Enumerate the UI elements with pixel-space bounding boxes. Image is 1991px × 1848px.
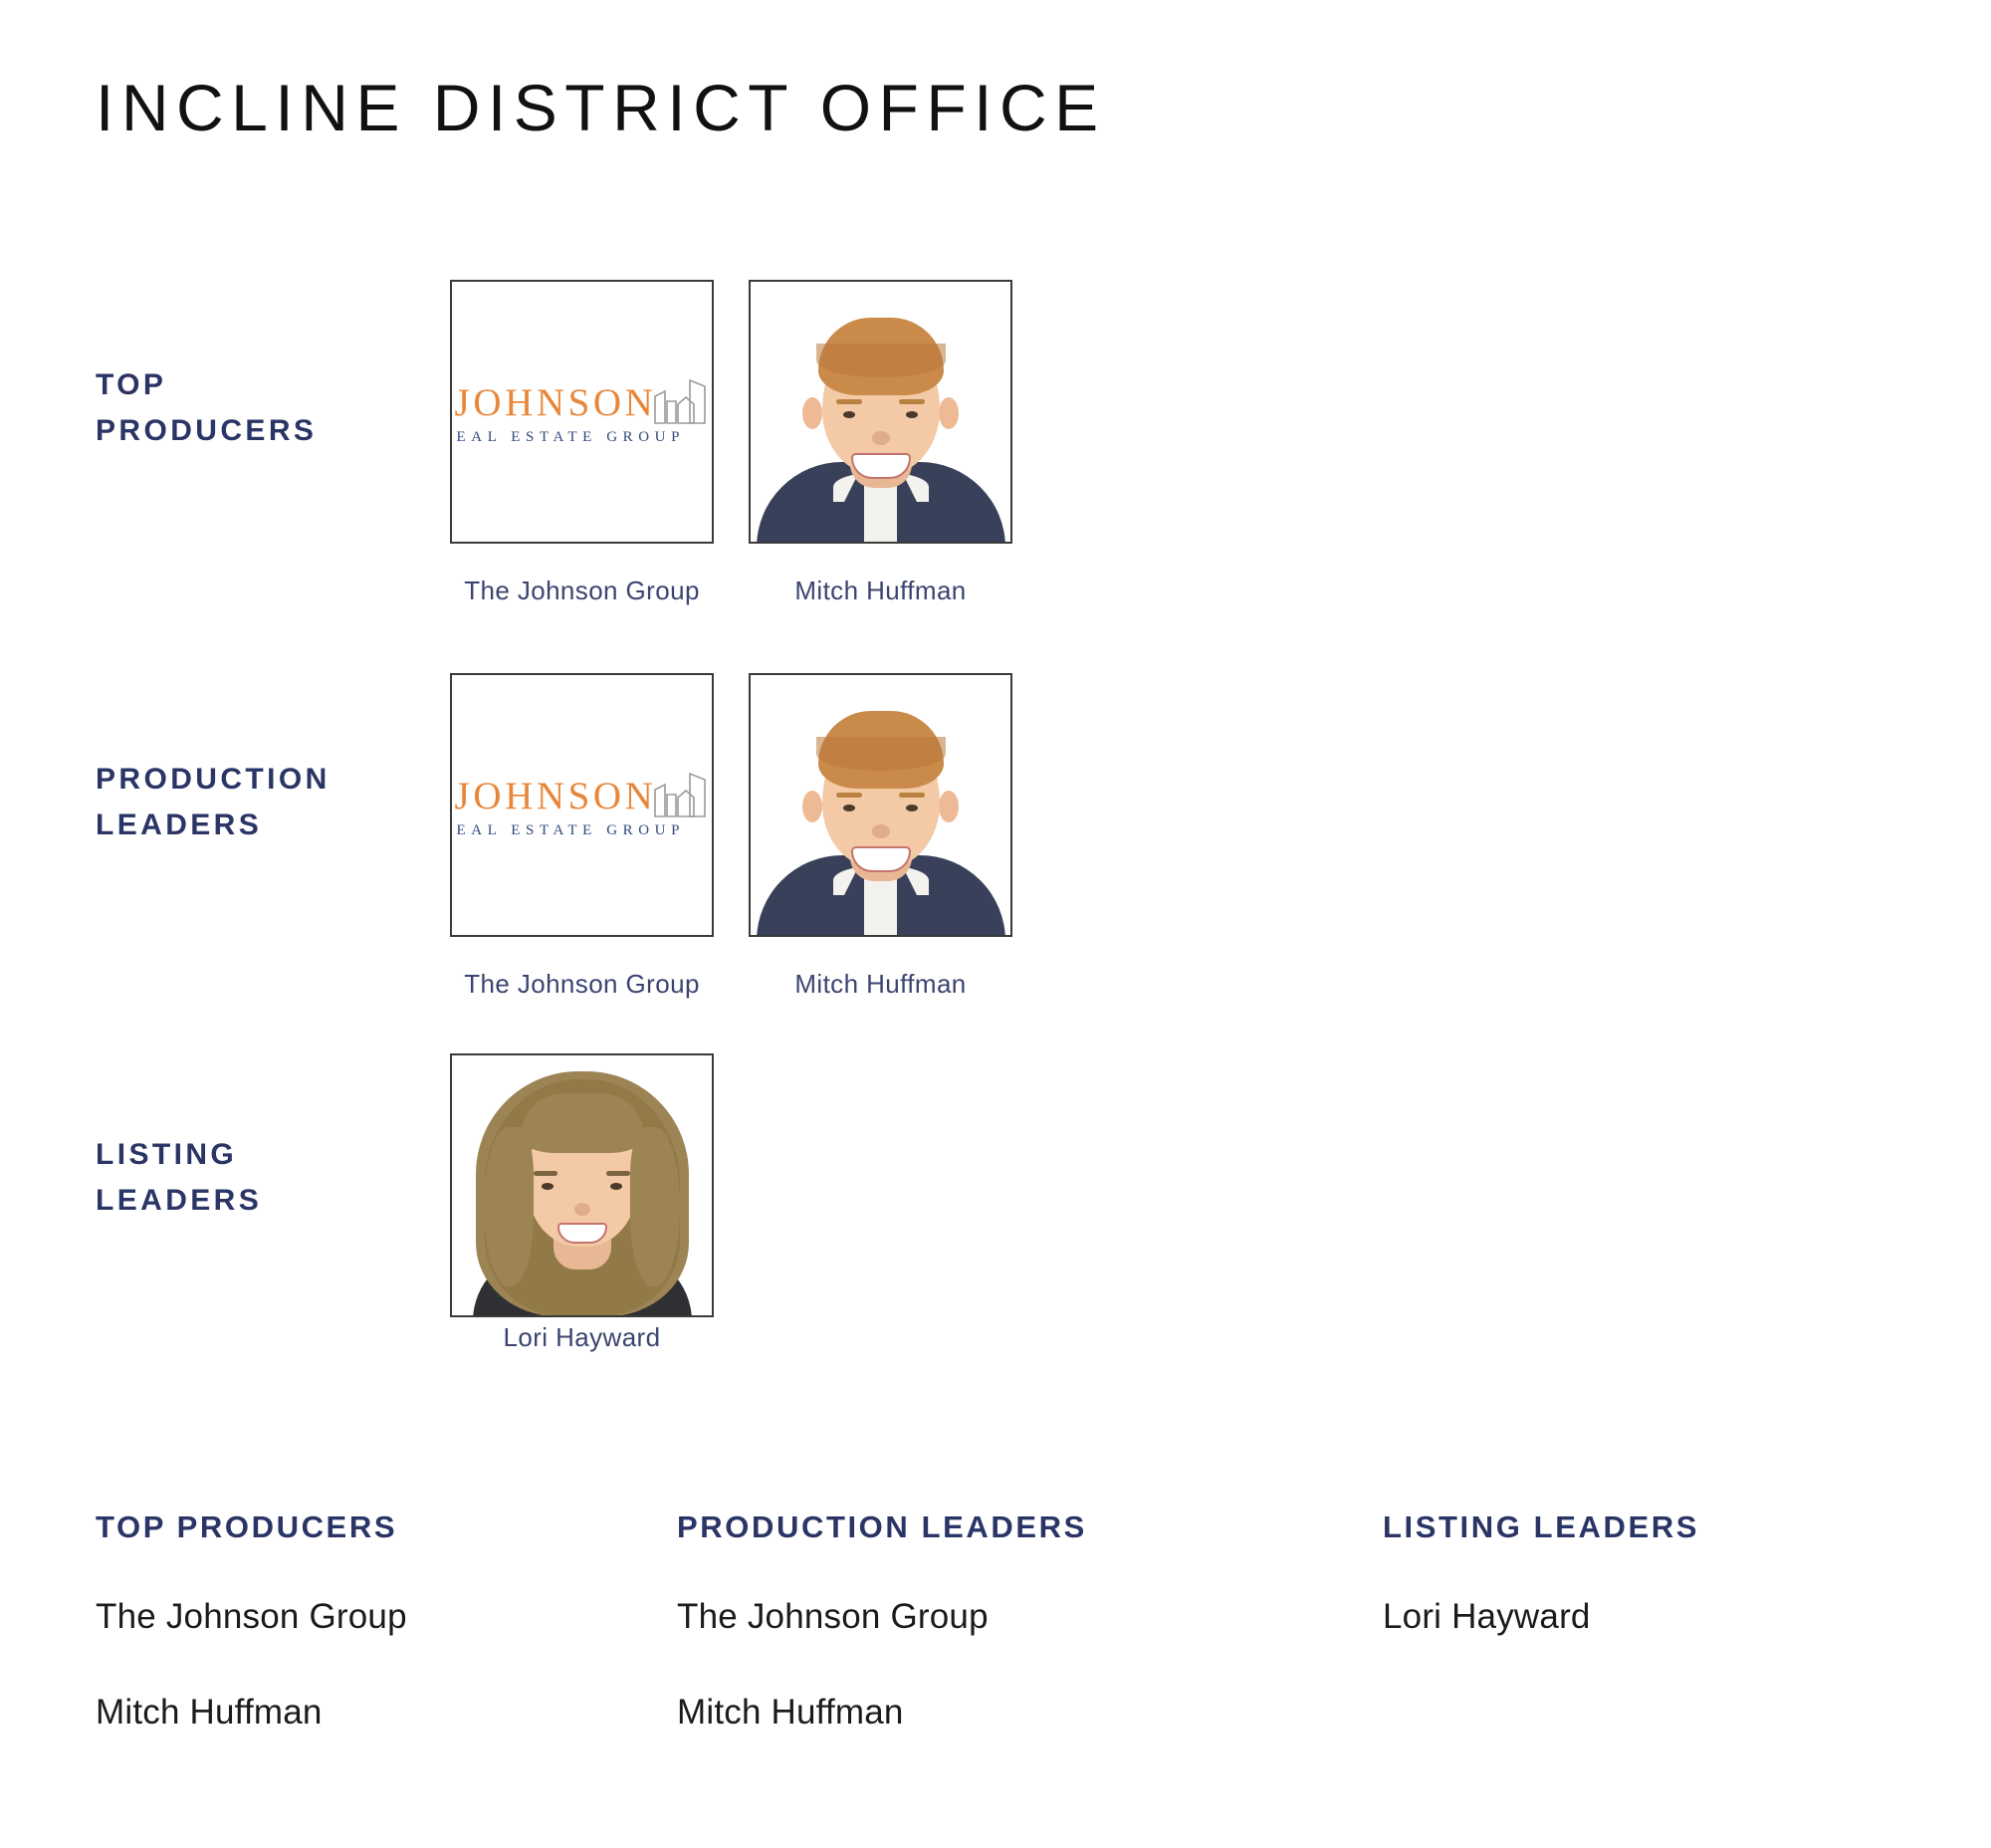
row-label-line-2: LEADERS	[96, 803, 424, 848]
johnson-real-estate-group-logo: JOHNSON REAL ESTATE GROUP	[452, 378, 712, 446]
award-card-logo[interactable]: JOHNSON REAL ESTATE GROUP	[450, 673, 714, 937]
skyline-buildings-icon	[653, 772, 709, 817]
johnson-real-estate-group-logo: JOHNSON REAL ESTATE GROUP	[452, 772, 712, 839]
summary-column-listing-leaders: LISTING LEADERS Lori Hayward	[1383, 1509, 1940, 1693]
award-card-caption: Mitch Huffman	[749, 575, 1012, 608]
award-card-headshot[interactable]	[749, 673, 1012, 937]
row-label-line-1: TOP	[96, 362, 424, 408]
summary-list-item: Mitch Huffman	[677, 1693, 1314, 1732]
row-label-top-producers: TOP PRODUCERS	[96, 362, 424, 453]
award-card-caption: Mitch Huffman	[749, 968, 1012, 1002]
award-card-caption: The Johnson Group	[450, 575, 714, 608]
award-card-headshot[interactable]	[450, 1053, 714, 1317]
logo-wordmark: JOHNSON	[455, 383, 657, 422]
headshot-photo-mitch-huffman	[751, 675, 1010, 935]
row-label-listing-leaders: LISTING LEADERS	[96, 1132, 424, 1223]
logo-primary-line: JOHNSON	[455, 772, 710, 815]
headshot-photo-mitch-huffman	[751, 282, 1010, 542]
skyline-buildings-icon	[653, 378, 709, 424]
summary-column-heading: LISTING LEADERS	[1383, 1509, 1940, 1545]
page-title: INCLINE DISTRICT OFFICE	[96, 72, 1106, 144]
logo-primary-line: JOHNSON	[455, 378, 710, 422]
row-label-production-leaders: PRODUCTION LEADERS	[96, 757, 424, 847]
row-label-line-2: PRODUCERS	[96, 408, 424, 454]
award-card-headshot[interactable]	[749, 280, 1012, 544]
summary-column-heading: PRODUCTION LEADERS	[677, 1509, 1314, 1545]
summary-list-item: Mitch Huffman	[96, 1693, 653, 1732]
headshot-photo-lori-hayward	[452, 1055, 712, 1315]
award-card-caption: Lori Hayward	[450, 1321, 714, 1355]
award-card-logo[interactable]: JOHNSON REAL ESTATE GROUP	[450, 280, 714, 544]
summary-list-item: Lori Hayward	[1383, 1597, 1940, 1637]
logo-tagline: REAL ESTATE GROUP	[450, 822, 685, 839]
award-card-caption: The Johnson Group	[450, 968, 714, 1002]
summary-list-item: The Johnson Group	[96, 1597, 653, 1637]
logo-wordmark: JOHNSON	[455, 777, 657, 815]
row-label-line-2: LEADERS	[96, 1178, 424, 1224]
logo-tagline: REAL ESTATE GROUP	[450, 429, 685, 446]
row-label-line-1: LISTING	[96, 1132, 424, 1178]
summary-column-top-producers: TOP PRODUCERS The Johnson Group Mitch Hu…	[96, 1509, 653, 1788]
summary-column-production-leaders: PRODUCTION LEADERS The Johnson Group Mit…	[677, 1509, 1314, 1788]
summary-list-item: The Johnson Group	[677, 1597, 1314, 1637]
row-label-line-1: PRODUCTION	[96, 757, 424, 803]
summary-column-heading: TOP PRODUCERS	[96, 1509, 653, 1545]
